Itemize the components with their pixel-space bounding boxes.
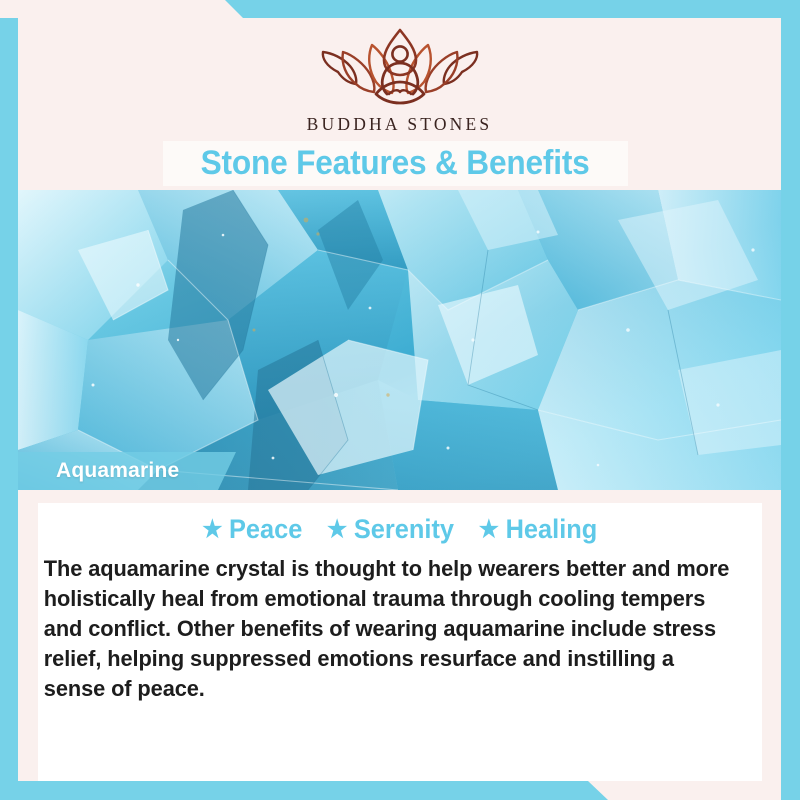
decorative-band-left	[0, 18, 18, 800]
infographic-page: BUDDHA STONES Stone Features & Benefits	[0, 0, 800, 800]
decorative-band-bottom	[0, 781, 800, 800]
brand-logo: BUDDHA STONES	[18, 24, 781, 135]
description-text: The aquamarine crystal is thought to hel…	[38, 554, 737, 704]
stone-name-label: Aquamarine	[56, 459, 179, 483]
star-icon: ★	[202, 518, 222, 542]
feature-item-peace: ★ Peace	[202, 514, 302, 545]
star-icon: ★	[327, 518, 347, 542]
stone-name-tag: Aquamarine	[18, 452, 236, 490]
decorative-band-top	[0, 0, 800, 18]
feature-label: Serenity	[354, 514, 454, 545]
decorative-band-right	[781, 0, 800, 800]
photo-content-divider	[18, 490, 781, 503]
star-icon: ★	[479, 518, 499, 542]
title-banner: Stone Features & Benefits	[163, 141, 628, 186]
feature-label: Healing	[505, 514, 597, 545]
stone-photo	[18, 190, 781, 490]
feature-label: Peace	[229, 514, 302, 545]
page-title: Stone Features & Benefits	[201, 144, 590, 183]
content-panel: ★ Peace ★ Serenity ★ Healing The aquamar…	[38, 503, 762, 781]
feature-item-healing: ★ Healing	[479, 514, 597, 545]
feature-item-serenity: ★ Serenity	[327, 514, 454, 545]
brand-name: BUDDHA STONES	[307, 114, 493, 135]
feature-list: ★ Peace ★ Serenity ★ Healing	[38, 503, 762, 545]
lotus-meditation-figure-icon	[312, 24, 488, 112]
